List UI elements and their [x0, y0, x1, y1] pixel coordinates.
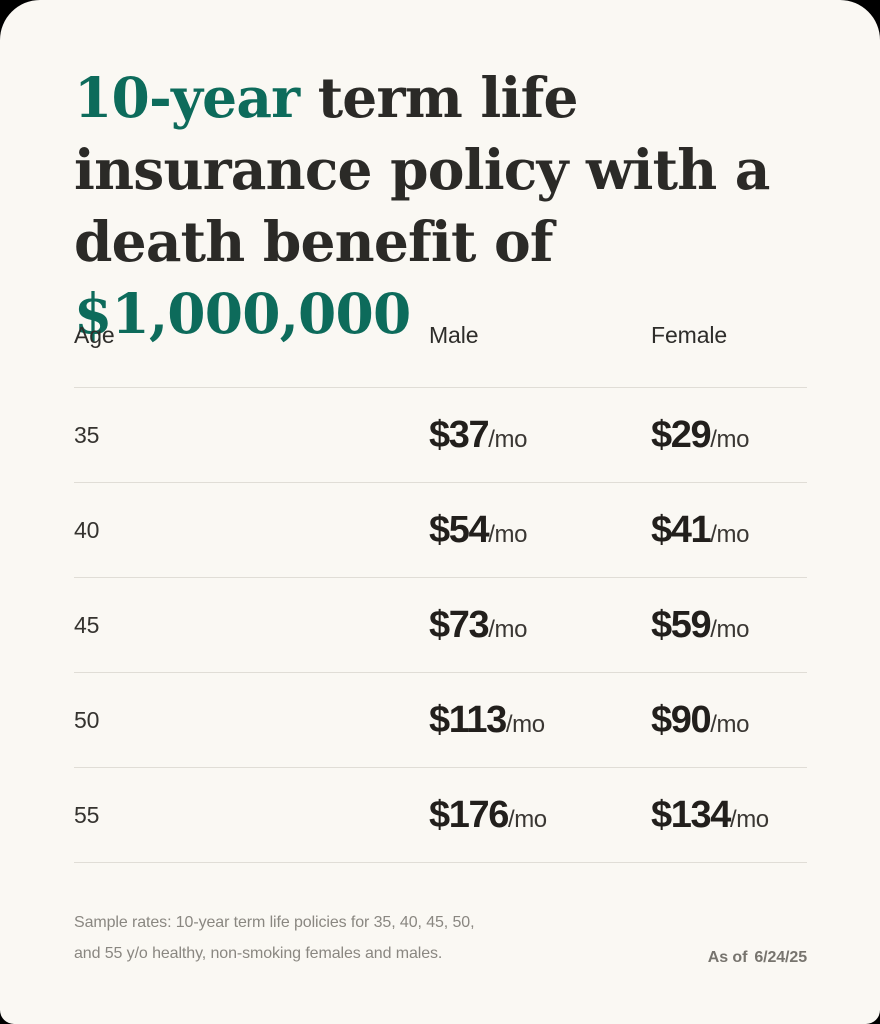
cell-female-price: $29/mo	[651, 388, 807, 483]
footer: Sample rates: 10-year term life policies…	[74, 907, 807, 969]
female-price-period: /mo	[710, 616, 749, 643]
female-price-amount: $90	[651, 699, 710, 741]
female-price-amount: $41	[651, 509, 710, 551]
male-price: $113/mo	[429, 699, 545, 741]
table-body: 35 $37/mo $29/mo 40 $54/mo $41/mo 45 $73…	[74, 388, 807, 863]
cell-female-price: $134/mo	[651, 768, 807, 863]
male-price: $37/mo	[429, 414, 527, 456]
age-value: 40	[74, 517, 99, 543]
cell-age: 40	[74, 483, 429, 578]
cell-female-price: $90/mo	[651, 673, 807, 768]
male-price-period: /mo	[508, 806, 547, 833]
male-price-period: /mo	[488, 426, 527, 453]
cell-age: 35	[74, 388, 429, 483]
cell-male-price: $37/mo	[429, 388, 651, 483]
column-header-female: Female	[651, 322, 807, 388]
age-value: 45	[74, 612, 99, 638]
age-value: 35	[74, 422, 99, 448]
female-price: $90/mo	[651, 699, 749, 741]
male-price-amount: $113	[429, 699, 506, 741]
female-price-period: /mo	[730, 806, 769, 833]
male-price-period: /mo	[506, 711, 545, 738]
male-price-amount: $73	[429, 604, 488, 646]
column-header-age: Age	[74, 322, 429, 388]
table-row: 45 $73/mo $59/mo	[74, 578, 807, 673]
cell-age: 50	[74, 673, 429, 768]
page-title: 10-year term life insurance policy with …	[74, 62, 814, 350]
as-of-date: 6/24/25	[754, 949, 807, 966]
male-price: $73/mo	[429, 604, 527, 646]
male-price: $54/mo	[429, 509, 527, 551]
rates-table: Age Male Female 35 $37/mo $29/mo 40 $54/…	[74, 322, 807, 863]
cell-age: 45	[74, 578, 429, 673]
male-price-amount: $37	[429, 414, 488, 456]
male-price-period: /mo	[488, 521, 527, 548]
female-price: $41/mo	[651, 509, 749, 551]
female-price-amount: $59	[651, 604, 710, 646]
disclaimer-text: Sample rates: 10-year term life policies…	[74, 907, 474, 969]
table-header-row: Age Male Female	[74, 322, 807, 388]
disclaimer-line-1: Sample rates: 10-year term life policies…	[74, 907, 474, 938]
as-of-stamp: As of6/24/25	[708, 949, 807, 969]
female-price: $29/mo	[651, 414, 749, 456]
cell-male-price: $113/mo	[429, 673, 651, 768]
cell-male-price: $54/mo	[429, 483, 651, 578]
female-price: $59/mo	[651, 604, 749, 646]
female-price-period: /mo	[710, 711, 749, 738]
female-price-period: /mo	[710, 426, 749, 453]
female-price-amount: $29	[651, 414, 710, 456]
male-price: $176/mo	[429, 794, 547, 836]
title-term-highlight: 10-year	[74, 65, 299, 130]
age-value: 55	[74, 802, 99, 828]
cell-male-price: $73/mo	[429, 578, 651, 673]
cell-female-price: $59/mo	[651, 578, 807, 673]
column-header-male: Male	[429, 322, 651, 388]
male-price-amount: $176	[429, 794, 508, 836]
as-of-label: As of	[708, 949, 748, 966]
male-price-amount: $54	[429, 509, 488, 551]
male-price-period: /mo	[488, 616, 527, 643]
female-price-amount: $134	[651, 794, 730, 836]
rates-card: 10-year term life insurance policy with …	[0, 0, 880, 1024]
table-header: Age Male Female	[74, 322, 807, 388]
cell-female-price: $41/mo	[651, 483, 807, 578]
female-price: $134/mo	[651, 794, 769, 836]
table-row: 55 $176/mo $134/mo	[74, 768, 807, 863]
disclaimer-line-2: and 55 y/o healthy, non-smoking females …	[74, 938, 474, 969]
cell-age: 55	[74, 768, 429, 863]
table-row: 40 $54/mo $41/mo	[74, 483, 807, 578]
table-row: 50 $113/mo $90/mo	[74, 673, 807, 768]
female-price-period: /mo	[710, 521, 749, 548]
cell-male-price: $176/mo	[429, 768, 651, 863]
age-value: 50	[74, 707, 99, 733]
table-row: 35 $37/mo $29/mo	[74, 388, 807, 483]
